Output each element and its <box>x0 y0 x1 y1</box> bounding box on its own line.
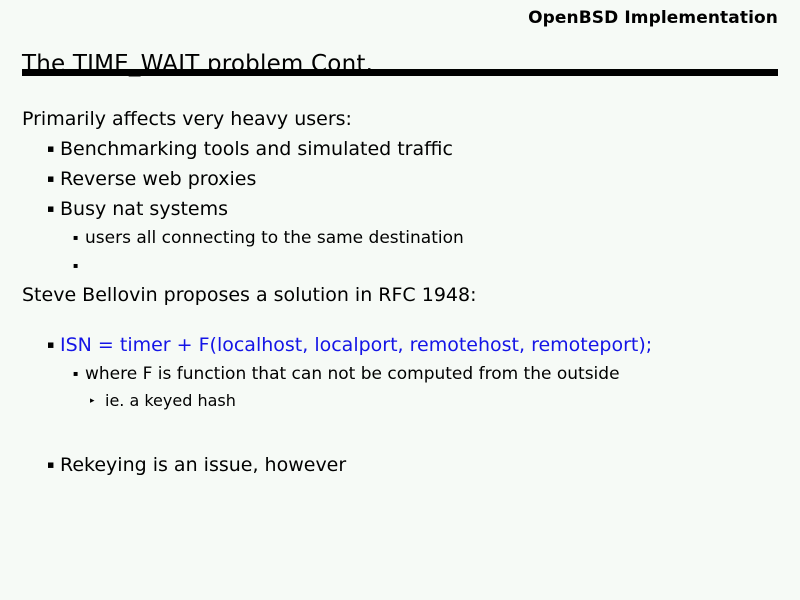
list-item-label: Reverse web proxies <box>60 164 256 194</box>
list-item-empty: ▪ <box>0 252 800 280</box>
list-item: ▪ Benchmarking tools and simulated traff… <box>0 134 800 164</box>
square-bullet-icon: ▪ <box>73 360 78 388</box>
title-divider <box>22 69 778 76</box>
slide-header: OpenBSD Implementation <box>22 8 778 28</box>
list-item-label: Steve Bellovin proposes a solution in RF… <box>22 280 477 310</box>
list-item: ▪ Reverse web proxies <box>0 164 800 194</box>
list-item-label: ie. a keyed hash <box>105 388 236 414</box>
list-item-highlighted: ▪ ISN = timer + F(localhost, localport, … <box>0 330 800 360</box>
square-bullet-icon: ▪ <box>47 134 54 164</box>
square-bullet-icon: ▪ <box>47 450 54 480</box>
square-bullet-icon: ▪ <box>47 164 54 194</box>
list-item-label: Rekeying is an issue, however <box>60 450 346 480</box>
square-bullet-icon: ▪ <box>47 330 54 360</box>
slide-canvas: OpenBSD Implementation The TIME_WAIT pro… <box>0 0 800 600</box>
list-item-label: Primarily affects very heavy users: <box>22 104 352 134</box>
presentation-title: OpenBSD Implementation <box>528 8 778 28</box>
isn-formula-label: ISN = timer + F(localhost, localport, re… <box>60 330 652 360</box>
list-item-label: where F is function that can not be comp… <box>85 360 620 388</box>
vertical-spacer <box>0 414 800 434</box>
square-bullet-icon: ▪ <box>73 224 78 252</box>
list-item: ▪ users all connecting to the same desti… <box>0 224 800 252</box>
square-bullet-icon: ▪ <box>73 252 78 280</box>
list-item: Primarily affects very heavy users: <box>0 104 800 134</box>
slide-body: Primarily affects very heavy users: ▪ Be… <box>0 104 800 480</box>
square-bullet-icon: ▪ <box>47 194 54 224</box>
list-item: ▪ where F is function that can not be co… <box>0 360 800 388</box>
vertical-spacer <box>0 310 800 330</box>
list-item-label: Busy nat systems <box>60 194 228 224</box>
triangle-bullet-icon: ▸ <box>90 388 95 414</box>
list-item-label: Benchmarking tools and simulated traffic <box>60 134 453 164</box>
list-item: ▪ Busy nat systems <box>0 194 800 224</box>
list-item: ▪ Rekeying is an issue, however <box>0 450 800 480</box>
list-item-label: users all connecting to the same destina… <box>85 224 464 252</box>
list-item: Steve Bellovin proposes a solution in RF… <box>0 280 800 310</box>
vertical-spacer <box>0 434 800 450</box>
list-item: ▸ ie. a keyed hash <box>0 388 800 414</box>
